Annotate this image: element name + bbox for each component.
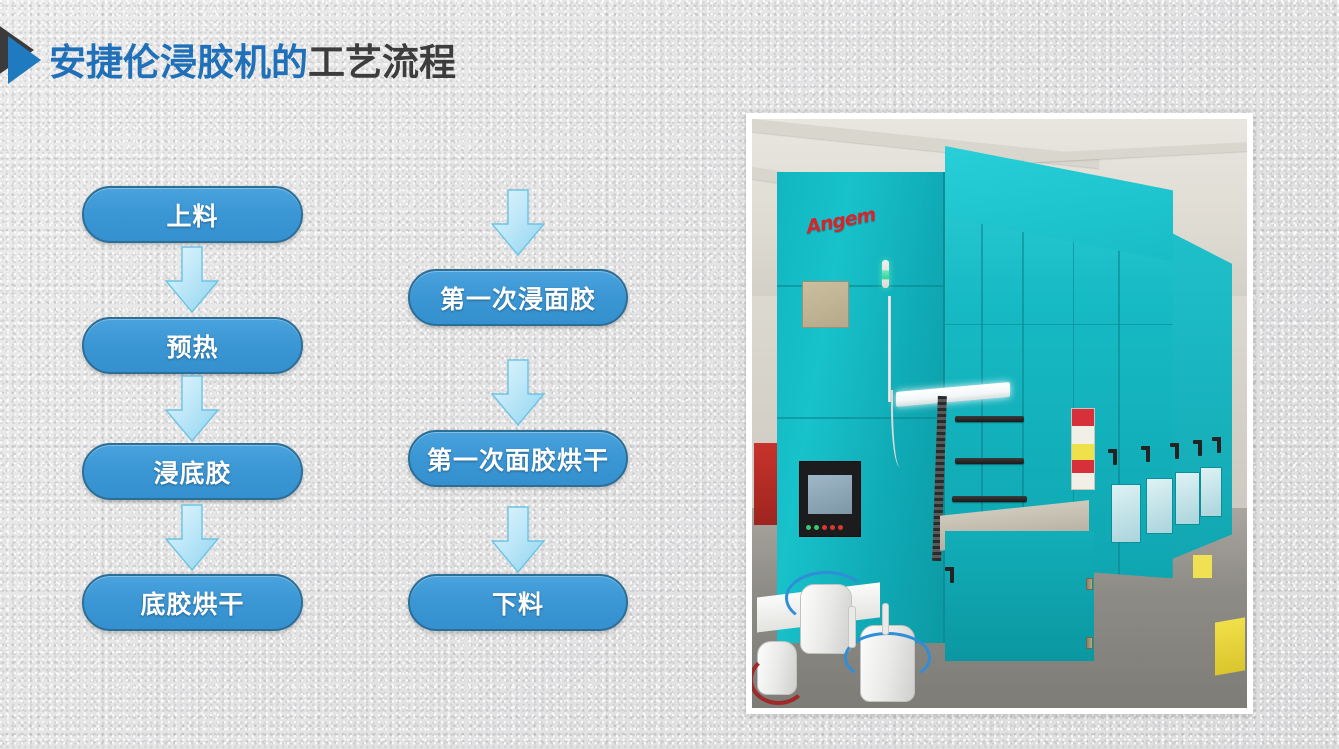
flow-node-diyiciJinmianjiao[interactable]: 第一次浸面胶 xyxy=(408,269,628,326)
machine-warning-label xyxy=(1071,408,1095,490)
flow-arrow-down-icon-4 xyxy=(488,188,548,258)
machine-photo-frame: Angem xyxy=(746,113,1253,714)
machine-side-handle-1[interactable] xyxy=(1113,449,1117,465)
machine-nameplate xyxy=(802,281,849,328)
machine-side-handle-2[interactable] xyxy=(1146,446,1150,462)
flow-arrow-down-icon-5 xyxy=(488,358,548,428)
flow-arrow-down-icon-1 xyxy=(162,245,222,315)
hmi-button-red-3 xyxy=(838,525,843,530)
equipment-pipe-2 xyxy=(882,603,889,635)
flow-node-yure[interactable]: 预热 xyxy=(82,317,303,374)
warning-label-yellow-band xyxy=(1072,444,1094,460)
warning-label-red-band-2 xyxy=(1072,460,1094,473)
machine-side-handle-3[interactable] xyxy=(1175,443,1179,459)
machine-side-handle-4[interactable] xyxy=(1198,440,1202,456)
machine-hmi-buttons xyxy=(806,525,843,530)
equipment-pipe-1 xyxy=(848,606,856,647)
process-flowchart: 上料 预热 浸底胶 底胶烘干 第一次浸面胶 xyxy=(0,0,700,749)
hmi-button-red-2 xyxy=(830,525,835,530)
machine-photo: Angem xyxy=(752,119,1247,708)
flow-arrow-down-icon-3 xyxy=(162,503,222,573)
machine-door-hinge-1 xyxy=(1086,578,1093,590)
flow-arrow-down-icon-6 xyxy=(488,505,548,575)
photo-yellow-marking-2 xyxy=(1193,555,1213,579)
machine-signal-tower-light xyxy=(882,260,889,288)
flow-node-jindijiao[interactable]: 浸底胶 xyxy=(82,443,303,500)
hmi-button-red xyxy=(822,525,827,530)
machine-lower-cabinet xyxy=(945,531,1094,661)
machine-control-panel xyxy=(799,461,861,538)
machine-signal-tower-pole xyxy=(888,296,891,402)
machine-inspection-window-2 xyxy=(1146,478,1173,534)
machine-rail-2 xyxy=(955,458,1024,464)
hmi-button-green xyxy=(806,525,811,530)
machine-rail-1 xyxy=(955,416,1024,422)
hmi-button-green-2 xyxy=(814,525,819,530)
machine-inspection-window-4 xyxy=(1200,467,1222,517)
flow-node-shangliao[interactable]: 上料 xyxy=(82,186,303,243)
machine-inspection-window-1 xyxy=(1111,484,1141,543)
machine-rail-3 xyxy=(952,496,1026,502)
flow-node-dijiaohonggan[interactable]: 底胶烘干 xyxy=(82,574,303,631)
photo-yellow-marking xyxy=(1215,617,1245,675)
machine-front-seam-1 xyxy=(777,417,943,419)
red-hose xyxy=(752,654,808,705)
flow-node-diyicimianjiaohonggan[interactable]: 第一次面胶烘干 xyxy=(408,430,628,487)
machine-door-hinge-2 xyxy=(1086,637,1093,649)
warning-label-white-band-2 xyxy=(1072,473,1094,489)
machine-seam-h xyxy=(945,324,1173,326)
blue-hose-2 xyxy=(844,632,931,683)
warning-label-white-band xyxy=(1072,426,1094,444)
glue-supply-equipment xyxy=(757,549,955,708)
machine-inspection-window-3 xyxy=(1175,472,1200,525)
flow-node-xialiao[interactable]: 下料 xyxy=(408,574,628,631)
warning-label-red-band xyxy=(1072,409,1094,427)
machine-hmi-screen xyxy=(808,475,851,514)
machine-side-handle-5[interactable] xyxy=(1217,437,1221,453)
flow-arrow-down-icon-2 xyxy=(162,374,222,444)
